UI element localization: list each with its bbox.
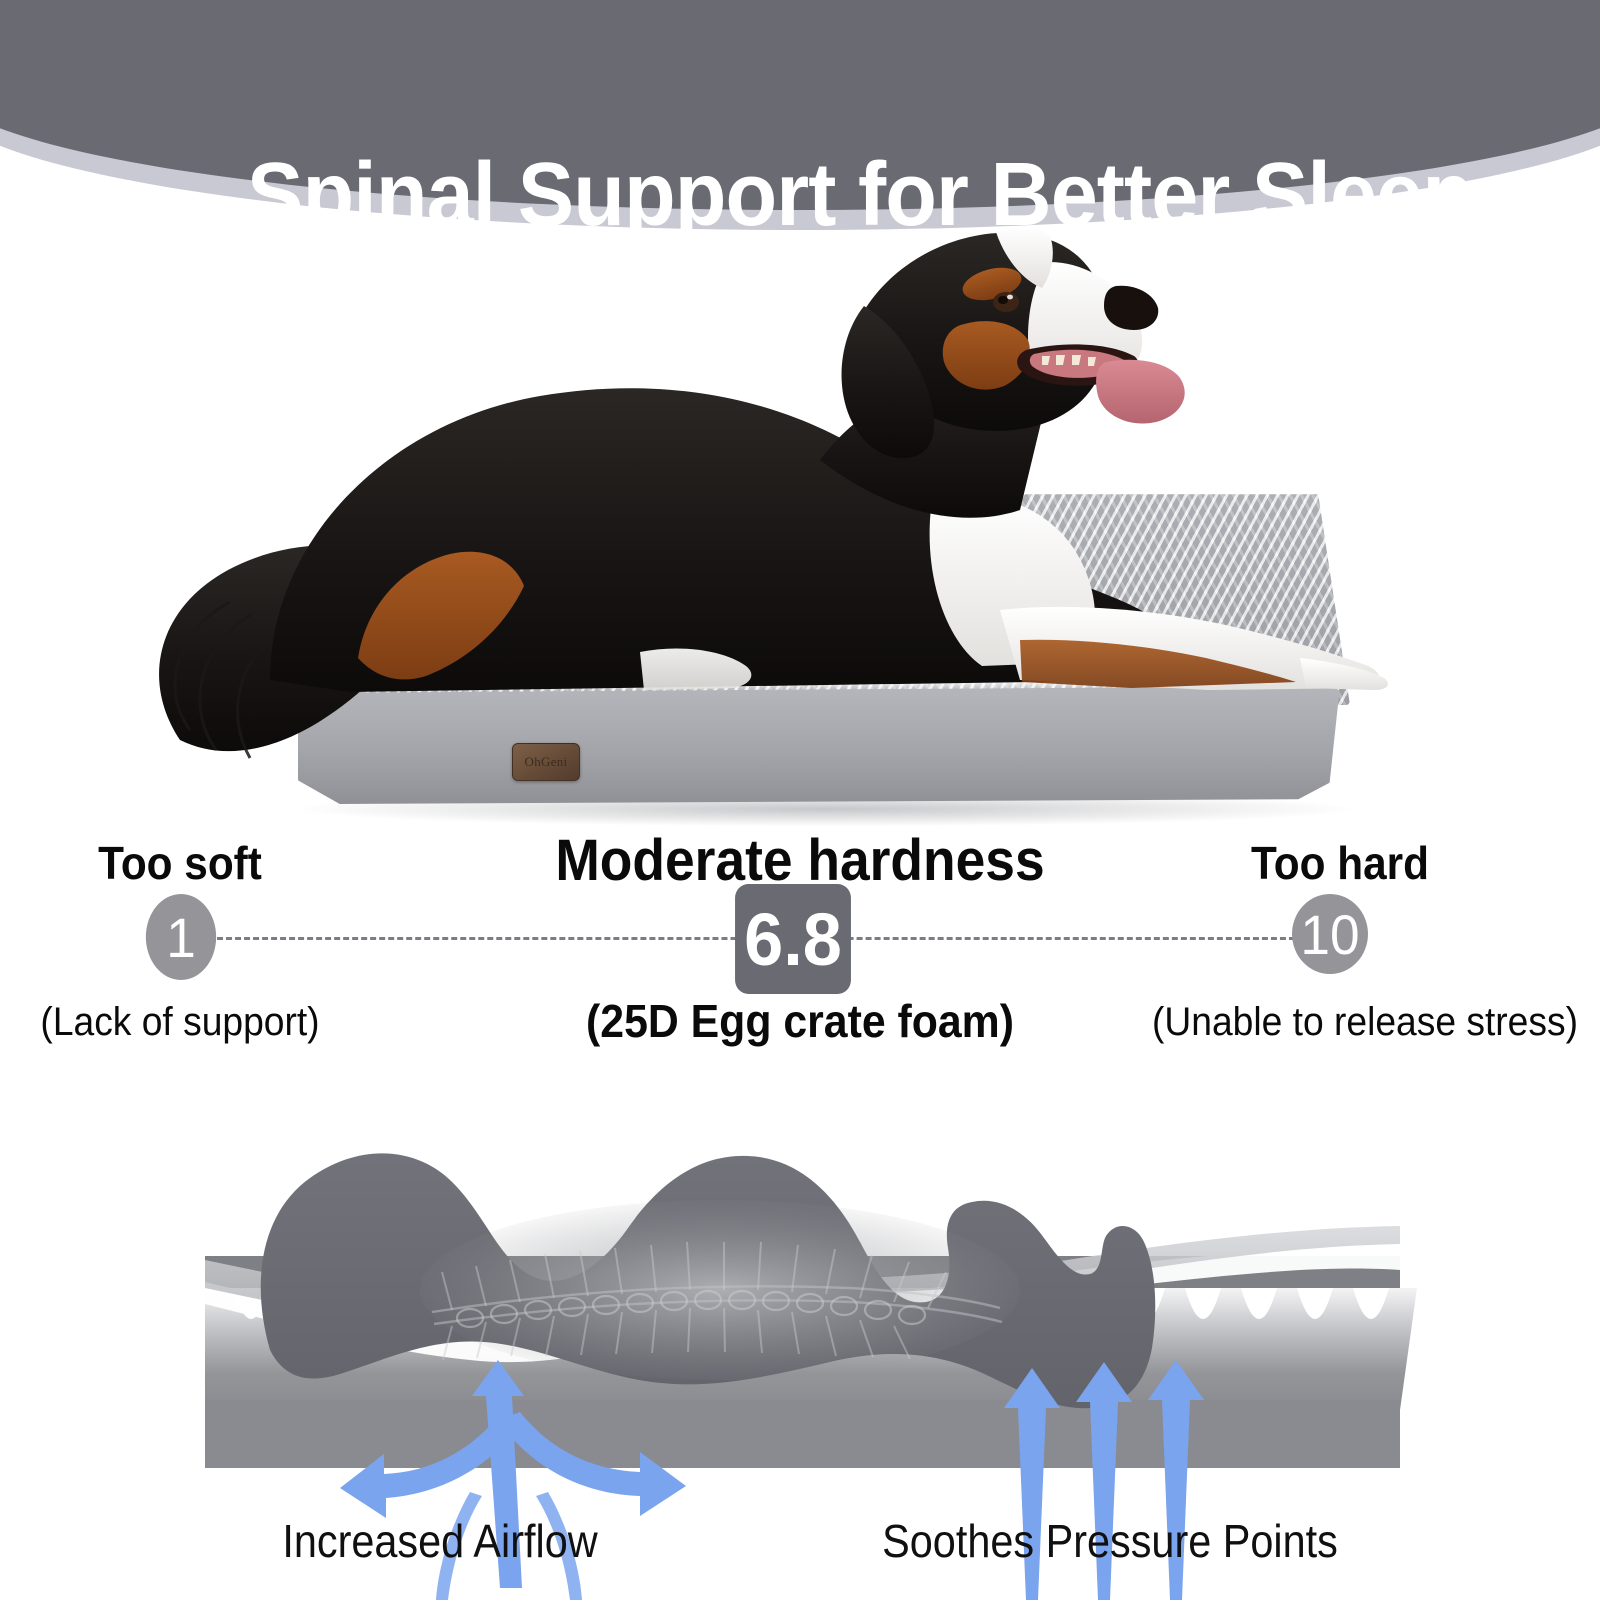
caption-soothes-pressure-points: Soothes Pressure Points [795,1518,1425,1564]
dog-illustration [120,210,1400,830]
scale-label-moderate-hardness: Moderate hardness [515,832,1085,890]
scale-sub-egg-crate-foam: (25D Egg crate foam) [502,998,1097,1044]
hardness-scale: Too soft Moderate hardness Too hard 1 6.… [0,830,1600,1060]
foam-cross-section-diagram: Increased Airflow Soothes Pressure Point… [0,1060,1600,1600]
scale-label-too-soft: Too soft [33,840,327,886]
scale-label-too-hard: Too hard [1184,840,1497,886]
scale-node-value-10: 10 [1292,894,1368,974]
scale-sub-lack-of-support: (Lack of support) [22,1002,338,1042]
caption-increased-airflow: Increased Airflow [188,1518,692,1564]
infographic-page: Spinal Support for Better Sleep OhGeni [0,0,1600,1600]
scale-node-value-6-8: 6.8 [735,884,851,994]
scale-sub-unable-release-stress: (Unable to release stress) [1146,1002,1583,1042]
product-photo: OhGeni [0,210,1600,850]
scale-node-value-1: 1 [146,894,216,980]
